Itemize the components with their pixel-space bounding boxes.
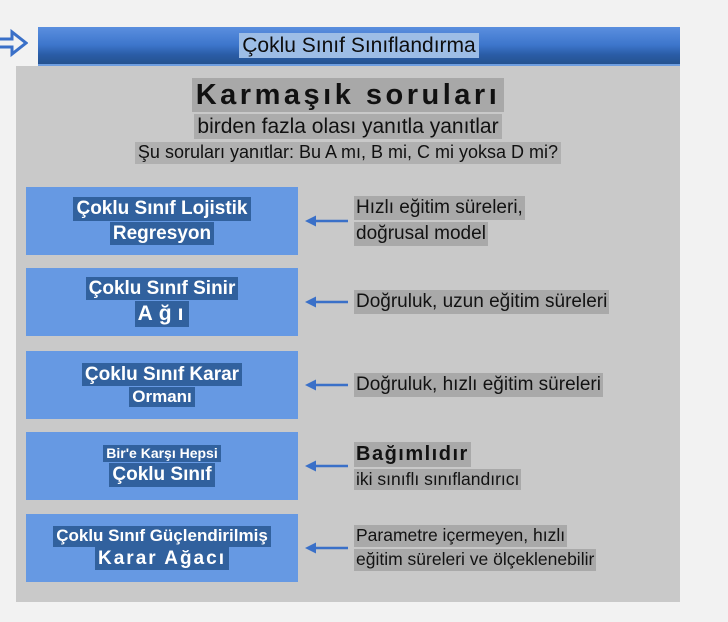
algorithm-row: Çoklu Sınıf Karar Ormanı Doğruluk, hızlı…: [16, 351, 680, 419]
box-line-2: Karar Ağacı: [95, 547, 229, 570]
box-line-1: Bir'e Karşı Hepsi: [103, 445, 221, 462]
algorithm-box-one-vs-all[interactable]: Bir'e Karşı Hepsi Çoklu Sınıf: [26, 432, 298, 500]
box-line-1: Çoklu Sınıf Lojistik: [73, 197, 250, 220]
algorithm-row: Çoklu Sınıf Güçlendirilmiş Karar Ağacı P…: [16, 514, 680, 582]
algorithm-row: Çoklu Sınıf Sinir Ağı Doğruluk, uzun eği…: [16, 268, 680, 336]
algorithm-note: Doğruluk, hızlı eğitim süreleri: [354, 351, 680, 419]
arrow-left-icon: [304, 538, 348, 558]
note-line-1: Parametre içermeyen, hızlı: [354, 525, 567, 547]
content-panel: Karmaşık soruları birden fazla olası yan…: [16, 66, 680, 602]
arrow-left-icon: [304, 456, 348, 476]
arrow-left-icon: [304, 211, 348, 231]
box-line-2: Ormanı: [129, 387, 195, 408]
note-line-2: iki sınıflı sınıflandırıcı: [354, 469, 521, 491]
slide-canvas: Çoklu Sınıf Sınıflandırma Karmaşık sorul…: [0, 0, 728, 622]
box-line-1: Çoklu Sınıf Karar: [82, 363, 242, 386]
note-line-1: Bağımlıdır: [354, 442, 471, 467]
algorithm-box-boosted-decision-tree[interactable]: Çoklu Sınıf Güçlendirilmiş Karar Ağacı: [26, 514, 298, 582]
algorithm-box-logistic-regression[interactable]: Çoklu Sınıf Lojistik Regresyon: [26, 187, 298, 255]
heading-subtitle-1: birden fazla olası yanıtla yanıtlar: [194, 114, 501, 139]
heading-subtitle-2: Şu soruları yanıtlar: Bu A mı, B mi, C m…: [135, 142, 561, 164]
box-line-1: Çoklu Sınıf Sinir: [86, 277, 239, 300]
note-line-1: Hızlı eğitim süreleri,: [354, 196, 525, 220]
algorithm-box-decision-forest[interactable]: Çoklu Sınıf Karar Ormanı: [26, 351, 298, 419]
note-line-2: doğrusal model: [354, 222, 488, 246]
slide-title-bar: Çoklu Sınıf Sınıflandırma: [38, 27, 680, 66]
page-title: Çoklu Sınıf Sınıflandırma: [239, 33, 478, 58]
heading-block: Karmaşık soruları birden fazla olası yan…: [16, 78, 680, 164]
algorithm-note: Bağımlıdır iki sınıflı sınıflandırıcı: [354, 432, 680, 500]
arrow-right-icon: [0, 26, 28, 60]
box-line-2: Ağı: [135, 301, 190, 327]
algorithm-note: Doğruluk, uzun eğitim süreleri: [354, 268, 680, 336]
algorithm-note: Hızlı eğitim süreleri, doğrusal model: [354, 187, 680, 255]
box-line-2: Çoklu Sınıf: [109, 463, 214, 486]
heading-main: Karmaşık soruları: [192, 78, 505, 112]
note-line-1: Doğruluk, hızlı eğitim süreleri: [354, 373, 603, 397]
algorithm-row: Bir'e Karşı Hepsi Çoklu Sınıf Bağımlıdır…: [16, 432, 680, 500]
arrow-left-icon: [304, 292, 348, 312]
algorithm-note: Parametre içermeyen, hızlı eğitim sürele…: [354, 514, 680, 582]
box-line-1: Çoklu Sınıf Güçlendirilmiş: [53, 526, 271, 547]
algorithm-row: Çoklu Sınıf Lojistik Regresyon Hızlı eği…: [16, 187, 680, 255]
note-line-2: eğitim süreleri ve ölçeklenebilir: [354, 549, 596, 571]
arrow-left-icon: [304, 375, 348, 395]
note-line-1: Doğruluk, uzun eğitim süreleri: [354, 290, 609, 314]
box-line-2: Regresyon: [110, 222, 214, 245]
algorithm-box-neural-network[interactable]: Çoklu Sınıf Sinir Ağı: [26, 268, 298, 336]
